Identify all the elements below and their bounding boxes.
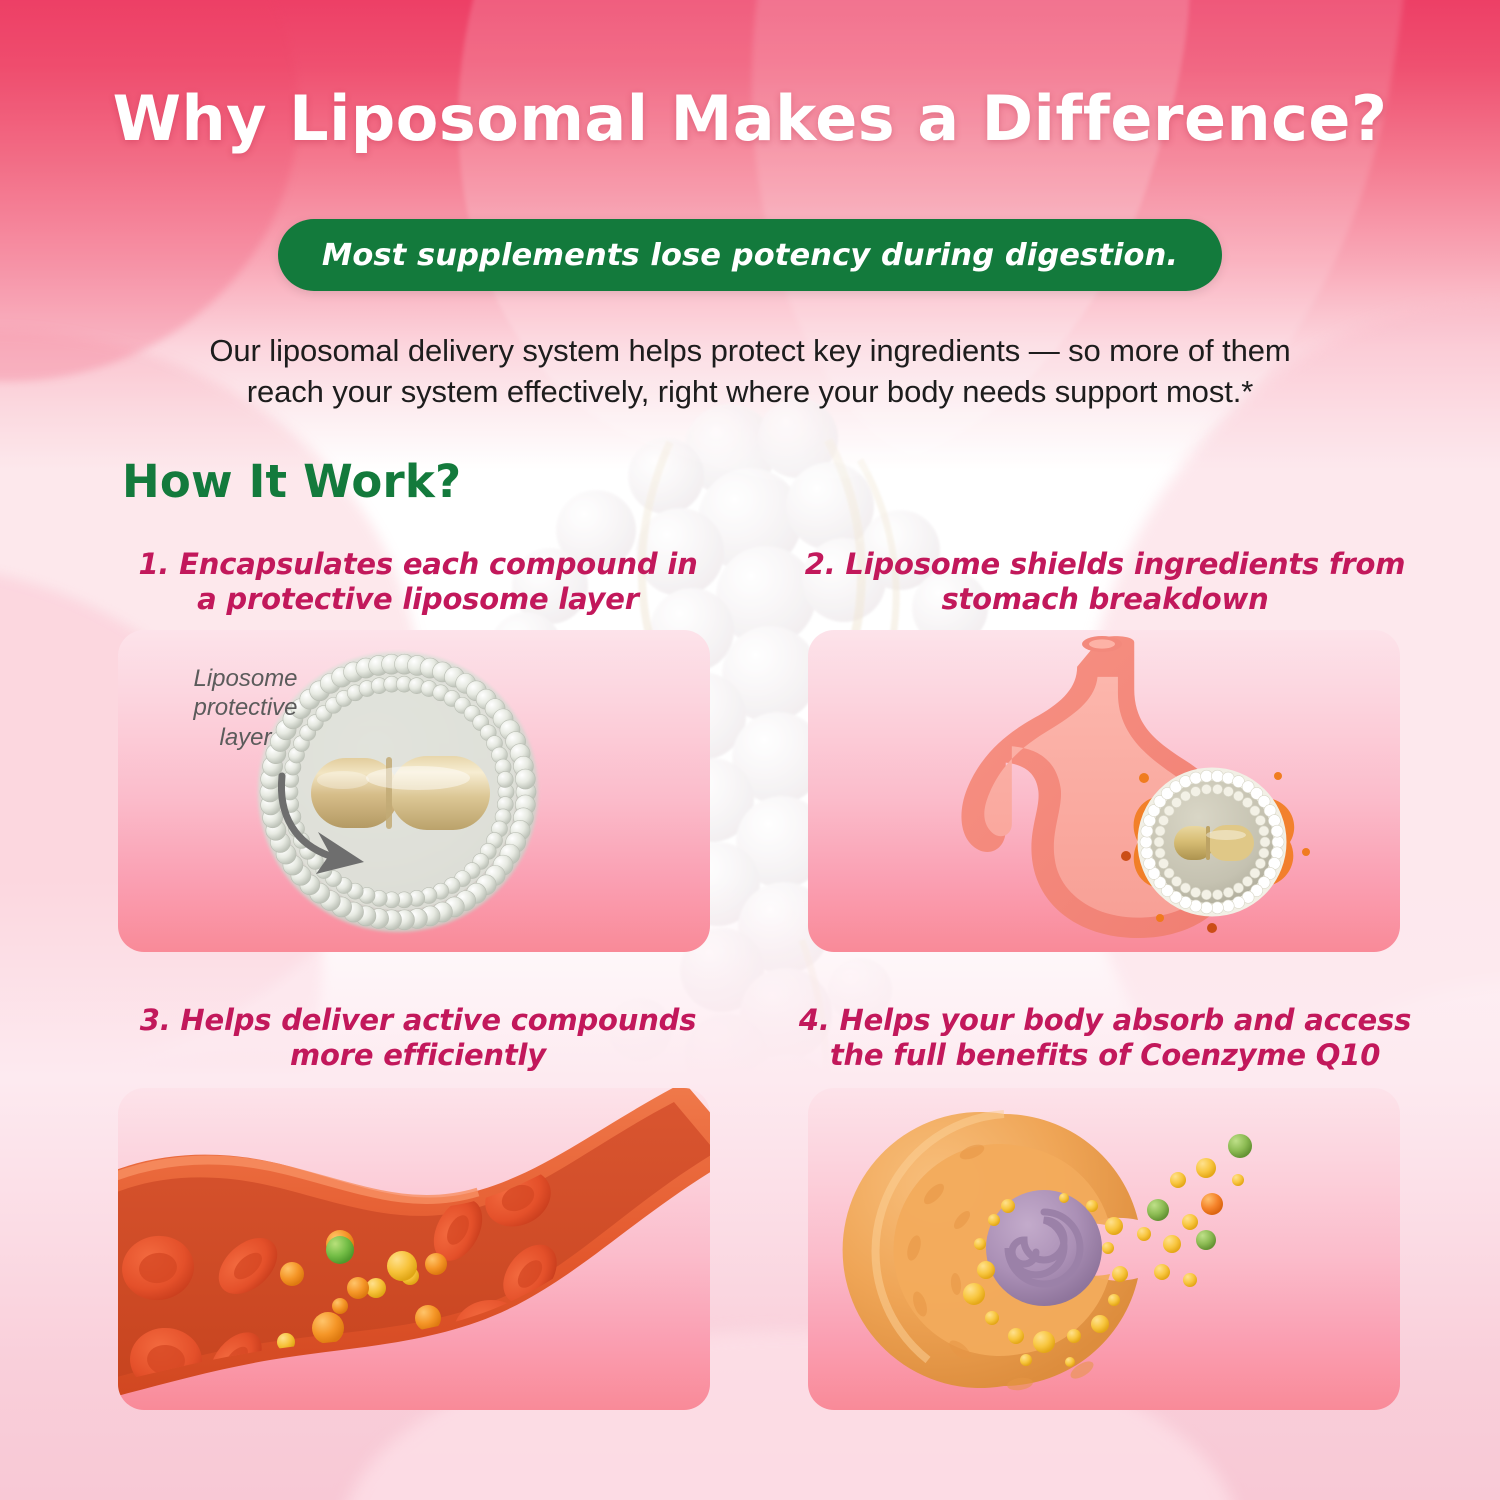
incoming-nutrients [1137, 1134, 1252, 1287]
step-4-caption-line-2: the full benefits of Coenzyme Q10 [790, 1038, 1420, 1073]
step-1-caption-line-2: a protective liposome layer [118, 582, 718, 617]
curved-arrow-icon [268, 770, 398, 880]
liposome-annotation-label: Liposome protective layer [158, 664, 333, 752]
step-2-panel [808, 630, 1400, 952]
step-3-caption-line-1: 3. Helps deliver active compounds [118, 1003, 718, 1038]
step-4-caption: 4. Helps your body absorb and access the… [790, 1003, 1420, 1073]
annotation-line-2: protective [158, 693, 333, 722]
step-3-caption-line-2: more efficiently [118, 1038, 718, 1073]
step-2-caption-line-2: stomach breakdown [800, 582, 1410, 617]
section-heading: How It Work? [122, 455, 461, 508]
intro-paragraph: Our liposomal delivery system helps prot… [90, 330, 1410, 412]
step-1-caption: 1. Encapsulates each compound in a prote… [118, 547, 718, 617]
shielded-liposome-icon [1140, 770, 1284, 914]
step-2-caption: 2. Liposome shields ingredients from sto… [800, 547, 1410, 617]
step-3-caption: 3. Helps deliver active compounds more e… [118, 1003, 718, 1073]
cell-absorption-illustration [808, 1088, 1400, 1410]
step-3-panel [118, 1088, 710, 1410]
stomach-illustration [808, 630, 1400, 952]
blood-vessel-illustration [118, 1088, 710, 1410]
step-4-panel [808, 1088, 1400, 1410]
tagline-banner: Most supplements lose potency during dig… [278, 219, 1222, 291]
annotation-line-1: Liposome [158, 664, 333, 693]
page-title: Why Liposomal Makes a Difference? [0, 82, 1500, 155]
tagline-text: Most supplements lose potency during dig… [322, 238, 1178, 273]
intro-line-2: reach your system effectively, right whe… [90, 371, 1410, 412]
step-1-caption-line-1: 1. Encapsulates each compound in [118, 547, 718, 582]
step-4-caption-line-1: 4. Helps your body absorb and access [790, 1003, 1420, 1038]
annotation-line-3: layer [158, 723, 333, 752]
intro-line-1: Our liposomal delivery system helps prot… [90, 330, 1410, 371]
step-1-panel: Liposome protective layer [118, 630, 710, 952]
step-2-caption-line-1: 2. Liposome shields ingredients from [800, 547, 1410, 582]
